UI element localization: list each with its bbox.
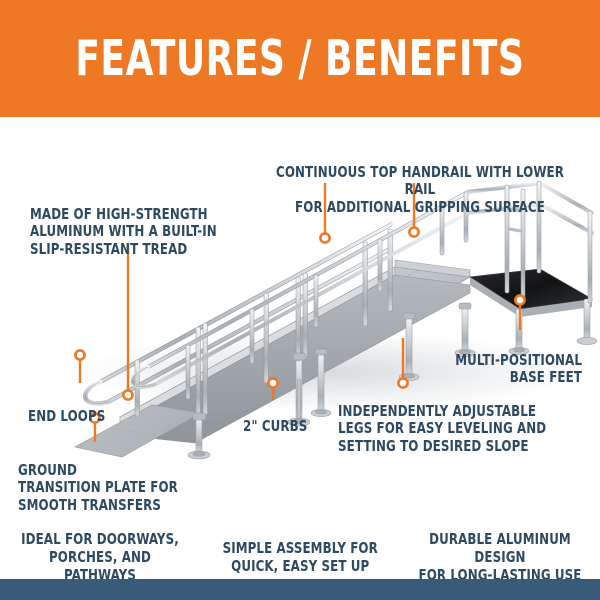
callout-high-strength-aluminum: MADE OF HIGH-STRENGTH ALUMINUM WITH A BU… — [30, 188, 219, 259]
post-f6 — [303, 273, 308, 357]
post-f5 — [296, 277, 301, 361]
infographic-page: FEATURES / BENEFITS — [0, 0, 600, 600]
leg-7 — [584, 299, 590, 339]
callout-curbs-label: 2" CURBS — [243, 417, 307, 435]
callout-top-handrail: CONTINUOUS TOP HANDRAIL WITH LOWER RAIL … — [275, 146, 565, 217]
callout-end-loops-label: END LOOPS — [28, 407, 105, 425]
post-f4 — [264, 293, 269, 383]
post-b3 — [314, 275, 318, 327]
caption-durable-label: DURABLE ALUMINUM DESIGN FOR LONG-LASTING… — [412, 530, 588, 584]
caption-doorways-label: IDEAL FOR DOORWAYS, PORCHES, AND PATHWAY… — [12, 530, 188, 584]
header-banner: FEATURES / BENEFITS — [0, 0, 600, 117]
callout-adjustable-legs-label: INDEPENDENTLY ADJUSTABLE LEGS FOR EASY L… — [338, 402, 546, 455]
platform-post-2 — [588, 211, 592, 303]
callout-ground-transition-plate-label: GROUND TRANSITION PLATE FOR SMOOTH TRANS… — [18, 461, 178, 514]
leg-4 — [406, 317, 412, 375]
caption-assembly: SIMPLE ASSEMBLY FOR QUICK, EASY SET UP — [200, 521, 400, 575]
post-f8 — [388, 229, 393, 311]
caption-durable: DURABLE ALUMINUM DESIGN FOR LONG-LASTING… — [400, 512, 600, 584]
caption-doorways: IDEAL FOR DOORWAYS, PORCHES, AND PATHWAY… — [0, 512, 200, 584]
callout-base-feet-label: MULTI-POSITIONAL BASE FEET — [455, 351, 582, 387]
caption-assembly-label: SIMPLE ASSEMBLY FOR QUICK, EASY SET UP — [222, 539, 377, 575]
post-b4 — [378, 239, 382, 291]
callout-adjustable-legs: INDEPENDENTLY ADJUSTABLE LEGS FOR EASY L… — [338, 385, 549, 456]
callout-top-handrail-label: CONTINUOUS TOP HANDRAIL WITH LOWER RAIL … — [276, 163, 564, 216]
post-b2 — [250, 309, 254, 363]
callout-high-strength-aluminum-label: MADE OF HIGH-STRENGTH ALUMINUM WITH A BU… — [30, 205, 217, 258]
footer-bar — [0, 579, 600, 600]
callout-ground-transition-plate: GROUND TRANSITION PLATE FOR SMOOTH TRANS… — [18, 444, 185, 515]
leg-1 — [196, 417, 202, 453]
post-b1 — [186, 345, 190, 399]
callout-curbs: 2" CURBS — [243, 400, 322, 435]
page-title: FEATURES / BENEFITS — [75, 34, 524, 83]
post-f7 — [363, 242, 368, 326]
bottom-caption-row: IDEAL FOR DOORWAYS, PORCHES, AND PATHWAY… — [0, 517, 600, 579]
callout-base-feet: MULTI-POSITIONAL BASE FEET — [431, 334, 582, 387]
callout-end-loops: END LOOPS — [28, 390, 160, 425]
